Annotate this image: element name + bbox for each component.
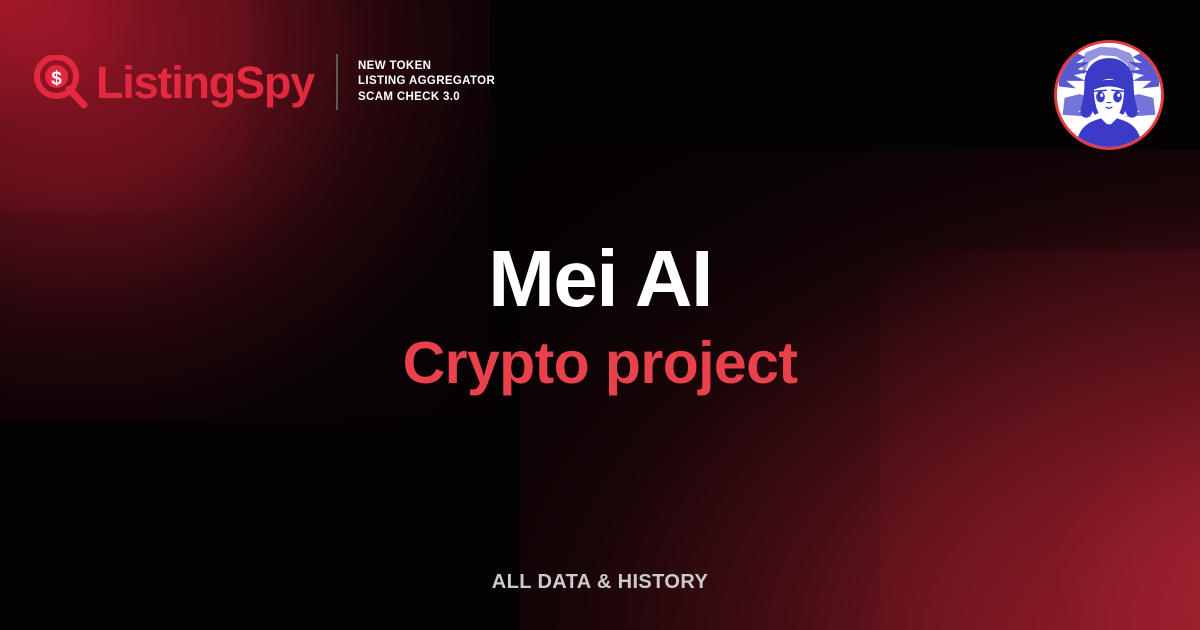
anime-character-avatar-icon xyxy=(1057,43,1161,147)
brand-divider xyxy=(336,54,338,110)
brand-word-listing: Listing xyxy=(96,57,235,108)
svg-text:$: $ xyxy=(51,69,62,90)
card-header: $ ListingSpy NEW TOKEN LISTING AGGREGATO… xyxy=(0,0,1200,170)
magnifier-dollar-icon: $ xyxy=(34,55,88,109)
tagline-line-1: NEW TOKEN xyxy=(358,60,431,72)
social-share-card: $ ListingSpy NEW TOKEN LISTING AGGREGATO… xyxy=(0,0,1200,630)
project-headline-block: Mei AI Crypto project xyxy=(0,232,1200,400)
tagline-line-3: SCAM CHECK 3.0 xyxy=(358,91,460,103)
project-avatar[interactable] xyxy=(1054,40,1164,150)
card-footer: ALL DATA & HISTORY xyxy=(0,570,1200,594)
tagline-line-2: LISTING AGGREGATOR xyxy=(358,75,495,87)
brand-word-spy: Spy xyxy=(235,57,314,108)
brand-wordmark: ListingSpy xyxy=(96,60,314,105)
brand-tagline: NEW TOKEN LISTING AGGREGATOR SCAM CHECK … xyxy=(358,59,495,106)
brand-lockup[interactable]: $ ListingSpy NEW TOKEN LISTING AGGREGATO… xyxy=(34,54,495,110)
page-subtitle: Crypto project xyxy=(0,326,1200,400)
footer-label: ALL DATA & HISTORY xyxy=(492,571,708,593)
page-title: Mei AI xyxy=(0,232,1200,326)
